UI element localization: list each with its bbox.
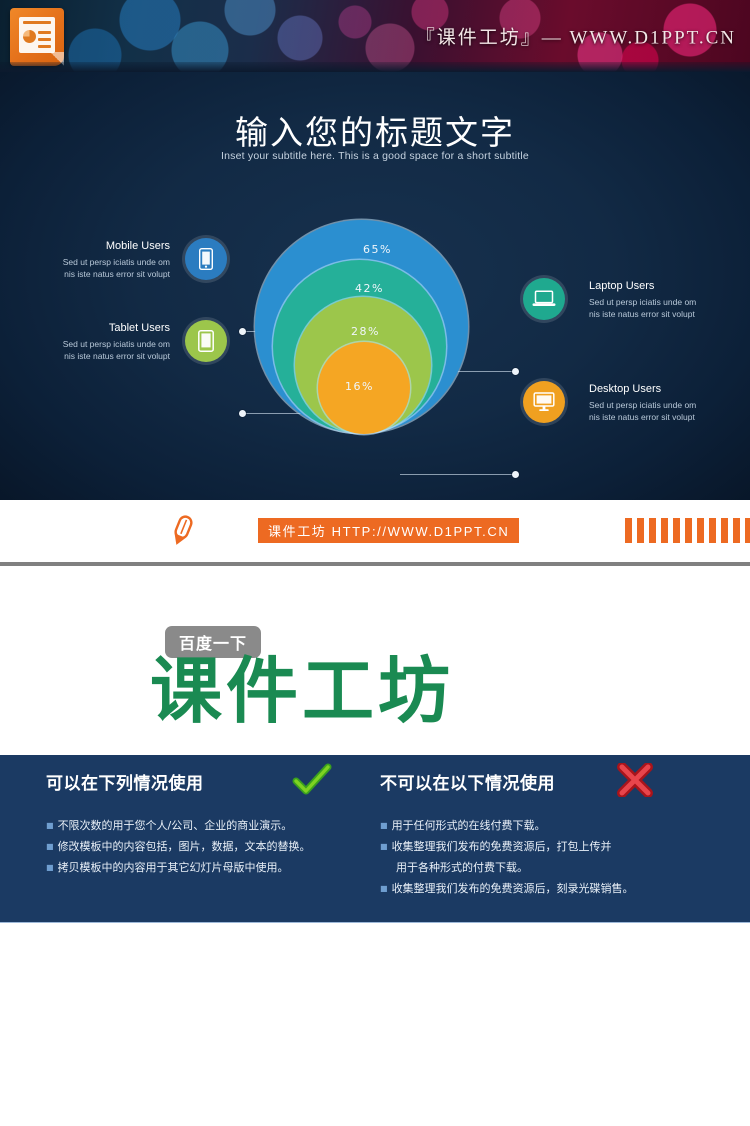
desktop-monitor-icon[interactable]: [523, 381, 565, 423]
chart-value-42: 42%: [355, 282, 384, 295]
desktop-monitor-glyph: [533, 392, 555, 412]
connector-dot-tablet: [239, 410, 246, 417]
label-mobile-users: Mobile Users Sed ut persp iciatis unde o…: [10, 240, 170, 281]
mobile-phone-glyph: [199, 248, 213, 270]
list-item: 收集整理我们发布的免费资源后，刻录光碟销售。: [380, 879, 730, 900]
label-desktop-line2: nis iste natus error sit volupt: [589, 411, 750, 423]
laptop-icon[interactable]: [523, 278, 565, 320]
page-subtitle: Inset your subtitle here. This is a good…: [0, 150, 750, 162]
brand-name: 课件工坊: [150, 655, 610, 727]
banner-site-text: 『课件工坊』— WWW.D1PPT.CN: [416, 23, 736, 50]
list-item: 拷贝模板中的内容用于其它幻灯片母版中使用。: [46, 858, 376, 879]
chart-value-65: 65%: [363, 243, 392, 256]
label-desktop-line1: Sed ut persp iciatis unde om: [589, 399, 750, 411]
tablet-icon[interactable]: [185, 320, 227, 362]
label-tablet-users: Tablet Users Sed ut persp iciatis unde o…: [10, 322, 170, 363]
mobile-phone-icon[interactable]: [185, 238, 227, 280]
label-mobile-line2: nis iste natus error sit volupt: [10, 268, 170, 280]
connector-dot-mobile: [239, 328, 246, 335]
label-laptop-title: Laptop Users: [589, 280, 750, 292]
list-item: 用于各种形式的付费下载。: [380, 858, 730, 879]
allowed-list: 不限次数的用于您个人/公司、企业的商业演示。 修改模板中的内容包括，图片，数据，…: [46, 816, 376, 879]
list-item: 不限次数的用于您个人/公司、企业的商业演示。: [46, 816, 376, 837]
label-laptop-users: Laptop Users Sed ut persp iciatis unde o…: [589, 280, 750, 321]
label-desktop-users: Desktop Users Sed ut persp iciatis unde …: [589, 383, 750, 424]
slide-preview-main: 输入您的标题文字 Inset your subtitle here. This …: [0, 72, 750, 500]
red-cross-icon: [615, 763, 655, 797]
powerpoint-doc-glyph: [19, 17, 55, 53]
label-tablet-line1: Sed ut persp iciatis unde om: [10, 338, 170, 350]
label-mobile-title: Mobile Users: [10, 240, 170, 252]
label-tablet-line2: nis iste natus error sit volupt: [10, 350, 170, 362]
page-title: 输入您的标题文字: [0, 106, 750, 154]
page-root: 『课件工坊』— WWW.D1PPT.CN 输入您的标题文字 Inset your…: [0, 0, 750, 1126]
decorative-bars: [625, 518, 750, 543]
connector-dot-desktop: [512, 471, 519, 478]
url-strip: 课件工坊 HTTP://WWW.D1PPT.CN: [0, 500, 750, 562]
powerpoint-file-icon: [10, 8, 64, 66]
tablet-glyph: [198, 330, 214, 352]
green-check-icon: [292, 763, 332, 797]
url-label: 课件工坊 HTTP://WWW.D1PPT.CN: [258, 518, 519, 543]
forbidden-list: 用于任何形式的在线付费下载。 收集整理我们发布的免费资源后，打包上传并 用于各种…: [380, 816, 730, 900]
chart-value-16: 16%: [345, 380, 374, 393]
usage-terms-panel: 可以在下列情况使用 不限次数的用于您个人/公司、企业的商业演示。 修改模板中的内…: [0, 755, 750, 923]
forbidden-heading: 不可以在以下情况使用: [380, 769, 730, 794]
top-banner: 『课件工坊』— WWW.D1PPT.CN: [0, 0, 750, 72]
label-mobile-line1: Sed ut persp iciatis unde om: [10, 256, 170, 268]
label-laptop-line1: Sed ut persp iciatis unde om: [589, 296, 750, 308]
label-tablet-title: Tablet Users: [10, 322, 170, 334]
list-item: 用于任何形式的在线付费下载。: [380, 816, 730, 837]
laptop-glyph: [532, 290, 556, 308]
forbidden-column: 不可以在以下情况使用 用于任何形式的在线付费下载。 收集整理我们发布的免费资源后…: [380, 769, 730, 900]
pencil-icon: [167, 514, 197, 548]
label-desktop-title: Desktop Users: [589, 383, 750, 395]
page-fold-corner: [50, 52, 64, 66]
list-item: 收集整理我们发布的免费资源后，打包上传并: [380, 837, 730, 858]
nested-circles-chart: 65% 42% 28% 16%: [255, 220, 485, 450]
connector-line-desktop: [400, 474, 518, 475]
chart-value-28: 28%: [351, 325, 380, 338]
connector-dot-laptop: [512, 368, 519, 375]
list-item: 修改模板中的内容包括，图片，数据，文本的替换。: [46, 837, 376, 858]
label-laptop-line2: nis iste natus error sit volupt: [589, 308, 750, 320]
